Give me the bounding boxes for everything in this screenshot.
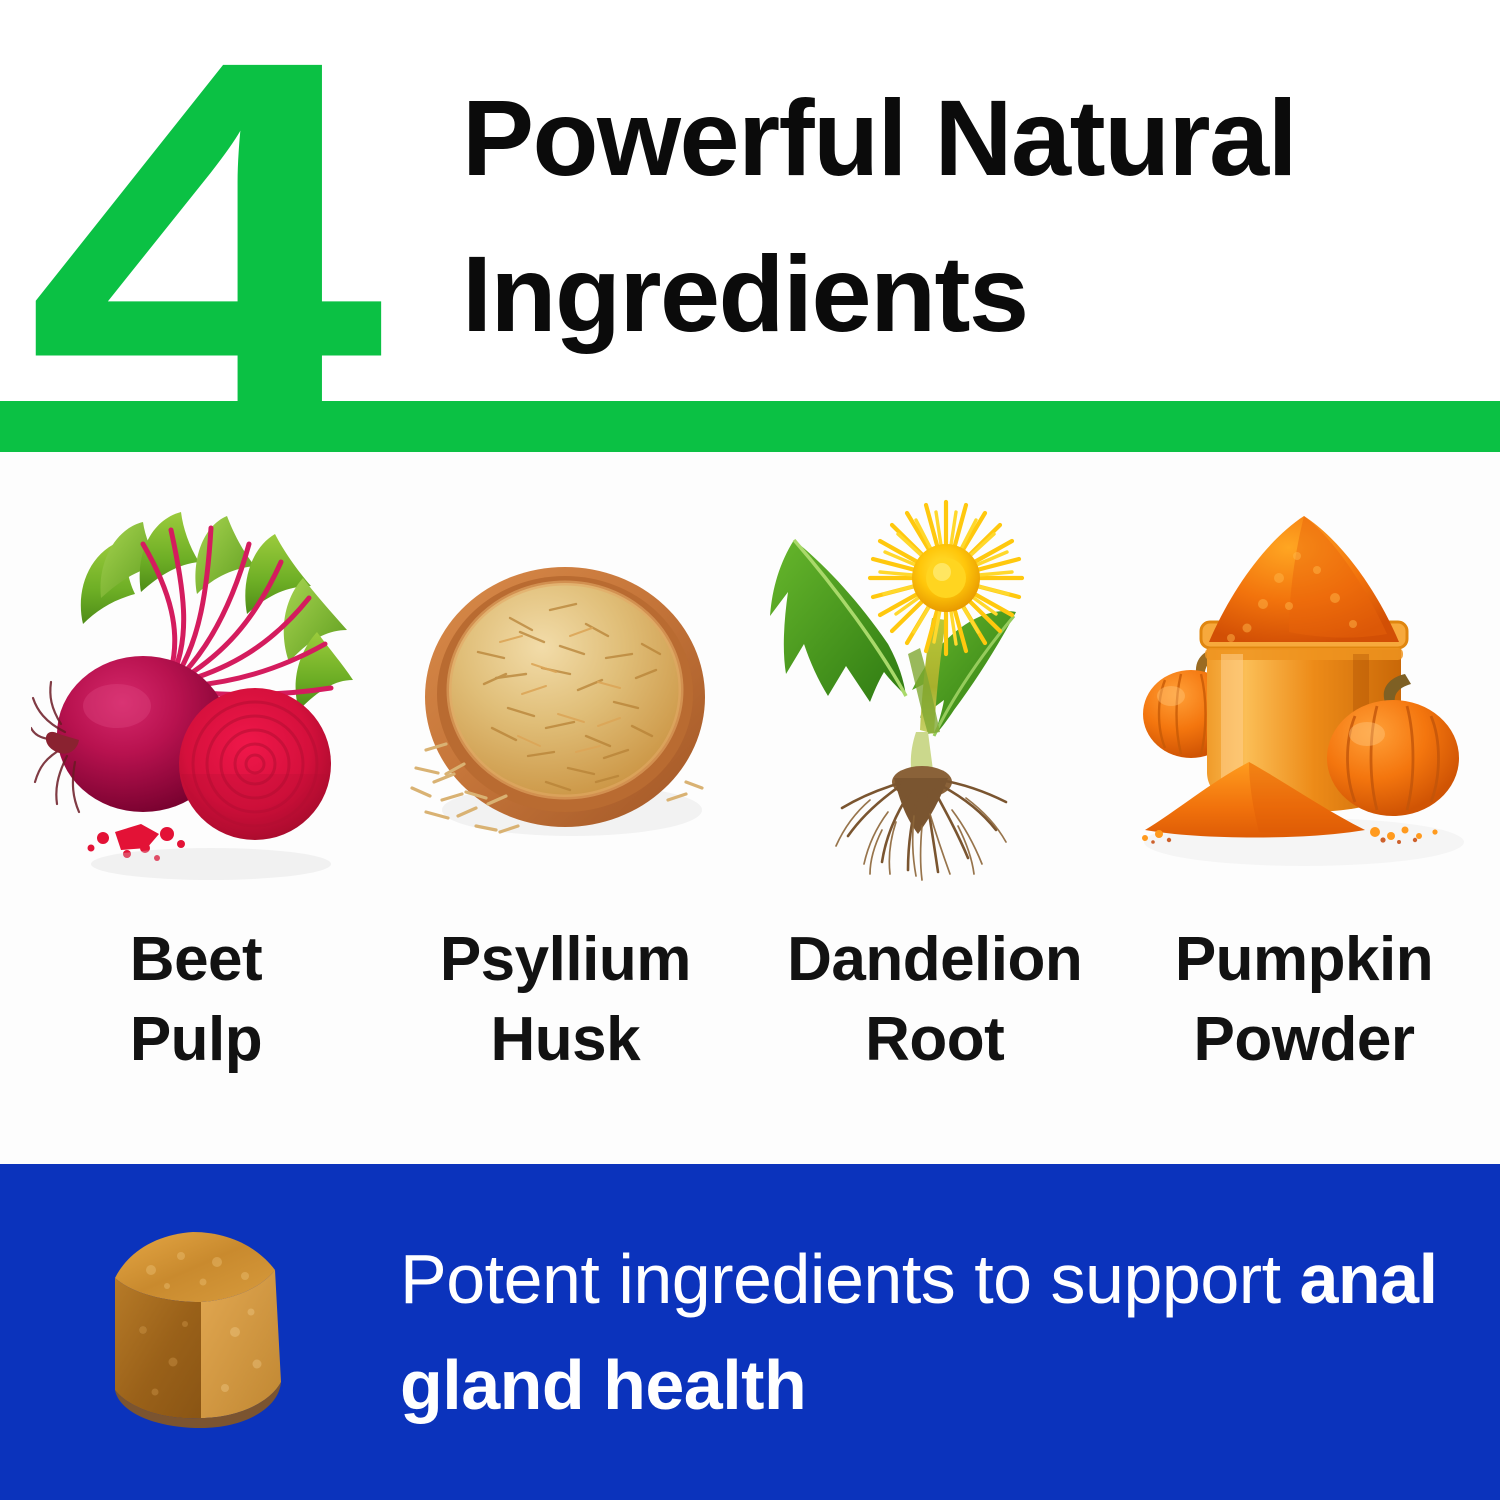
ingredients-grid: Beet Pulp [0,452,1500,1164]
ingredient-label: Psyllium Husk [440,920,691,1080]
ingredient-card-beet-pulp: Beet Pulp [18,452,374,1080]
soft-chew-icon [85,1212,315,1452]
ingredient-card-dandelion-root: Dandelion Root [757,452,1113,1080]
psyllium-icon [400,482,730,902]
dandelion-icon [770,482,1100,902]
pumpkin-icon [1139,482,1469,902]
page-title: Powerful Natural Ingredients [462,60,1472,372]
soft-chew-wrap [0,1212,400,1452]
claim-banner: Potent ingredients to support anal gland… [0,1164,1500,1500]
ingredient-label: Beet Pulp [130,920,262,1080]
ingredient-card-pumpkin-powder: Pumpkin Powder [1126,452,1482,1080]
header-section: 4 Powerful Natural Ingredients [0,0,1500,452]
ingredient-label: Pumpkin Powder [1175,920,1433,1080]
banner-claim-plain: Potent ingredients to support [400,1240,1299,1318]
beet-icon [31,482,361,902]
banner-claim-text: Potent ingredients to support anal gland… [400,1226,1500,1438]
green-divider-bar [0,401,1500,452]
ingredient-card-psyllium-husk: Psyllium Husk [387,452,743,1080]
ingredient-label: Dandelion Root [787,920,1082,1080]
